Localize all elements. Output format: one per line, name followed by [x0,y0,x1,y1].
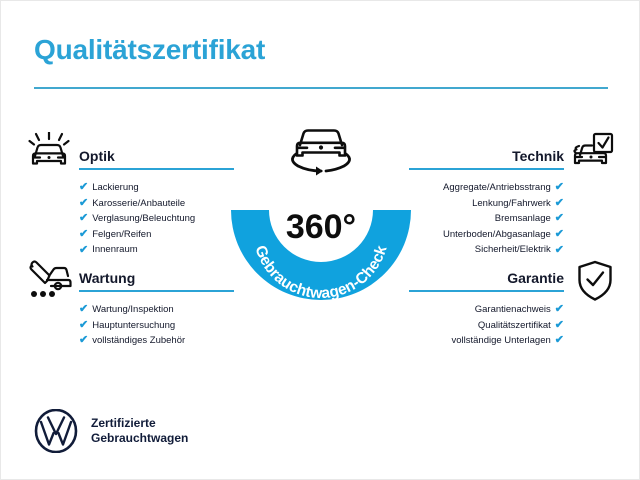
section-optik-header: Optik [79,147,234,173]
list-item: ✔Lackierung [79,180,234,196]
list-item-label: Garantienachweis [475,302,551,318]
list-item-label: Karosserie/Anbauteile [92,196,185,212]
footer-branding: Zertifizierte Gebrauchtwagen [34,409,188,453]
list-item-label: Innenraum [92,242,137,258]
check-icon: ✔ [555,198,564,209]
list-item-label: Verglasung/Beleuchtung [92,211,195,227]
list-item: Bremsanlage✔ [409,211,564,227]
list-item: ✔Karosserie/Anbauteile [79,196,234,212]
check-icon: ✔ [79,245,88,256]
page-title: Qualitätszertifikat [34,34,265,66]
check-icon: ✔ [555,304,564,315]
section-technik-header: Technik [409,147,564,173]
section-technik: Technik Aggregate/Antriebsstrang✔ Lenkun… [409,147,564,258]
list-item: ✔Hauptuntersuchung [79,318,234,334]
check-icon: ✔ [79,229,88,240]
section-wartung-list: ✔Wartung/Inspektion ✔Hauptuntersuchung ✔… [79,302,234,349]
check-icon: ✔ [79,198,88,209]
check-icon: ✔ [79,320,88,331]
list-item-label: Lenkung/Fahrwerk [472,196,551,212]
list-item: Unterboden/Abgasanlage✔ [409,227,564,243]
shield-check-icon [576,260,614,307]
section-technik-title: Technik [409,147,564,165]
list-item: Lenkung/Fahrwerk✔ [409,196,564,212]
list-item: ✔Verglasung/Beleuchtung [79,211,234,227]
section-optik: Optik ✔Lackierung ✔Karosserie/Anbauteile… [79,147,234,258]
list-item-label: Lackierung [92,180,138,196]
section-optik-divider [79,168,234,170]
car-rotate-icon [282,121,360,181]
footer-line-2: Gebrauchtwagen [91,431,188,446]
footer-line-1: Zertifizierte [91,416,188,431]
section-garantie-list: Garantienachweis✔ Qualitätszertifikat✔ v… [409,302,564,349]
check-icon: ✔ [79,182,88,193]
list-item-label: Aggregate/Antriebsstrang [443,180,551,196]
list-item-label: Sicherheit/Elektrik [475,242,551,258]
section-optik-title: Optik [79,147,234,165]
car-shine-icon [27,132,71,177]
list-item: ✔Innenraum [79,242,234,258]
check-icon: ✔ [555,182,564,193]
section-garantie-header: Garantie [409,269,564,295]
check-icon: ✔ [79,335,88,346]
section-wartung-header: Wartung [79,269,234,295]
list-item-label: Bremsanlage [495,211,551,227]
list-item: Qualitätszertifikat✔ [409,318,564,334]
check-icon: ✔ [555,320,564,331]
list-item: ✔vollständiges Zubehör [79,333,234,349]
list-item-label: vollständiges Zubehör [92,333,185,349]
list-item-label: Unterboden/Abgasanlage [443,227,551,243]
check-icon: ✔ [555,335,564,346]
title-divider [34,87,608,89]
list-item: ✔Felgen/Reifen [79,227,234,243]
volkswagen-logo [34,409,78,453]
list-item: Sicherheit/Elektrik✔ [409,242,564,258]
list-item: Garantienachweis✔ [409,302,564,318]
list-item-label: Hauptuntersuchung [92,318,175,334]
list-item: Aggregate/Antriebsstrang✔ [409,180,564,196]
section-garantie: Garantie Garantienachweis✔ Qualitätszert… [409,269,564,349]
list-item-label: Qualitätszertifikat [478,318,551,334]
section-technik-divider [409,168,564,170]
list-item-label: Felgen/Reifen [92,227,151,243]
quality-certificate-page: Qualitätszertifikat [0,0,640,480]
section-wartung: Wartung ✔Wartung/Inspektion ✔Hauptunters… [79,269,234,349]
check-icon: ✔ [555,245,564,256]
footer-text: Zertifizierte Gebrauchtwagen [91,416,188,446]
list-item: vollständige Unterlagen✔ [409,333,564,349]
section-garantie-divider [409,290,564,292]
car-checkbox-icon [570,132,614,177]
section-technik-list: Aggregate/Antriebsstrang✔ Lenkung/Fahrwe… [409,180,564,258]
check-icon: ✔ [555,213,564,224]
section-wartung-divider [79,290,234,292]
check-icon: ✔ [79,213,88,224]
wrench-car-icon [27,259,73,304]
list-item: ✔Wartung/Inspektion [79,302,234,318]
section-optik-list: ✔Lackierung ✔Karosserie/Anbauteile ✔Verg… [79,180,234,258]
section-garantie-title: Garantie [409,269,564,287]
list-item-label: Wartung/Inspektion [92,302,174,318]
list-item-label: vollständige Unterlagen [451,333,550,349]
section-wartung-title: Wartung [79,269,234,287]
check-icon: ✔ [555,229,564,240]
check-icon: ✔ [79,304,88,315]
360-check-badge: Gebrauchtwagen-Check 360° [229,148,413,313]
